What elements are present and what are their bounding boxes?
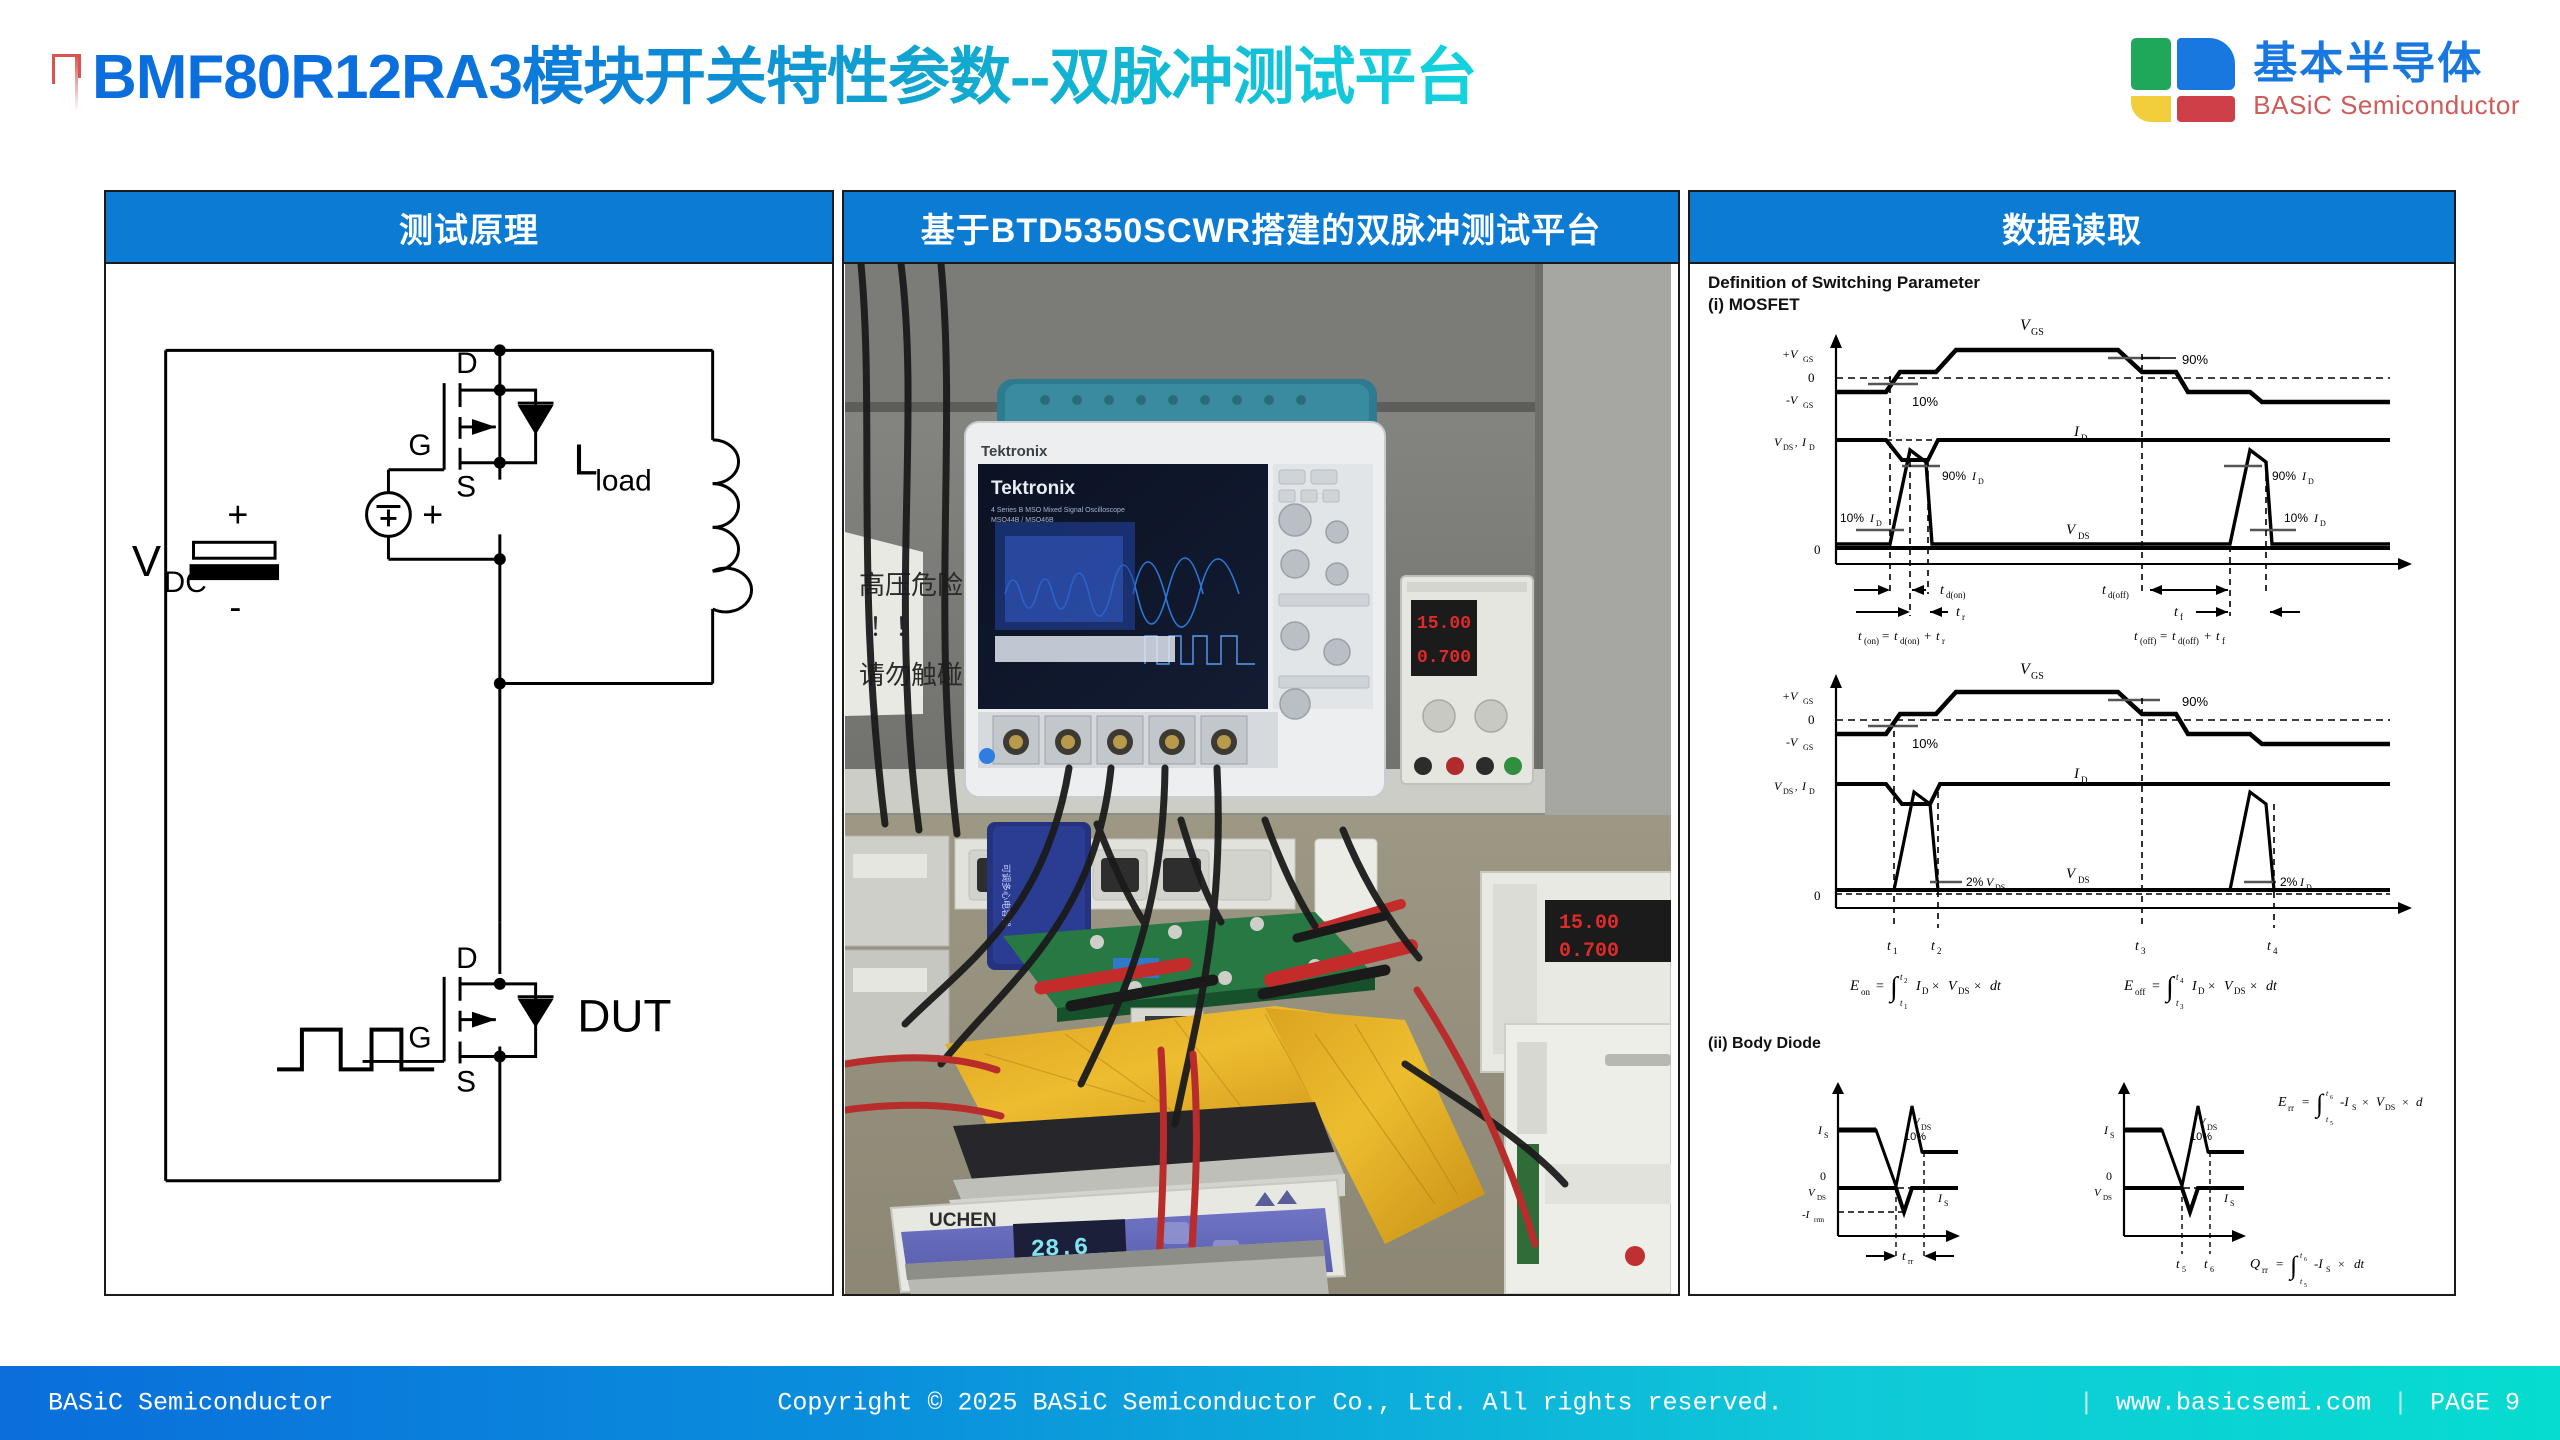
logo-text-cn: 基本半导体 (2253, 42, 2520, 86)
eq-t-on: t (1858, 628, 1862, 643)
panel-center-body: 高压危险 ！！ 请勿触碰 (844, 264, 1678, 1294)
svg-text:×: × (2402, 1095, 2409, 1109)
svg-text:1: 1 (1904, 1003, 1908, 1011)
svg-text:GS: GS (2031, 671, 2044, 682)
svg-text:2: 2 (1904, 977, 1908, 985)
footer-separator-1: | (2079, 1389, 2094, 1418)
svg-text:-I: -I (2314, 1256, 2323, 1271)
oscilloscope: Tektronix Tektronix 4 Series B MSO Mixed… (965, 379, 1385, 797)
svg-text:D: D (2081, 433, 2088, 443)
svg-text:=: = (1876, 979, 1884, 994)
svg-text:=: = (2160, 628, 2167, 643)
ann-2pct-vds: 2% (1966, 875, 1984, 889)
svg-text:+: + (2204, 628, 2211, 643)
label-q1-source: S (456, 471, 476, 504)
svg-text:Q: Q (2250, 1257, 2260, 1272)
svg-text:S: S (2352, 1103, 2356, 1112)
svg-text:,: , (1795, 438, 1798, 449)
test-bench-photo: 高压危险 ！！ 请勿触碰 (845, 264, 1671, 1294)
svg-text:0: 0 (1808, 712, 1815, 727)
svg-text:3: 3 (2180, 1003, 2184, 1011)
panel-data-readout: 数据读取 Definition of Switching Parameter (… (1688, 190, 2456, 1296)
svg-text:V: V (2224, 979, 2234, 994)
svg-text:GS: GS (1803, 355, 1813, 364)
slide-root: BMF80R12RA3模块开关特性参数--双脉冲测试平台 基本半导体 BASiC… (0, 0, 2560, 1440)
label-q2-drain: D (456, 942, 478, 975)
svg-text:d: d (2416, 1094, 2423, 1109)
label-lload: L (573, 436, 597, 485)
panel-left-body: V DC + - D G S + L load D G S DUT (106, 264, 832, 1294)
svg-text:DS: DS (2385, 1103, 2395, 1112)
label-vdc-sub: DC (164, 566, 207, 599)
svg-text:GS: GS (1803, 697, 1813, 706)
footer-url[interactable]: www.basicsemi.com (2116, 1389, 2371, 1418)
label-batt-minus: - (229, 587, 241, 627)
svg-text:D: D (1922, 986, 1929, 996)
svg-text:6: 6 (2304, 1257, 2307, 1263)
svg-text:DS: DS (2078, 875, 2090, 885)
ann-10pct-top: 10% (1912, 394, 1938, 409)
svg-text:15.00: 15.00 (1559, 912, 1619, 935)
svg-text:E: E (2123, 978, 2133, 994)
svg-text:d(off): d(off) (2178, 636, 2199, 646)
panel-right-header: 数据读取 (1690, 192, 2454, 264)
svg-text:GS: GS (1803, 743, 1813, 752)
svg-text:D: D (1809, 443, 1815, 452)
ann-2pct-id: 2% (2280, 875, 2298, 889)
svg-text:(on): (on) (1864, 636, 1879, 646)
label-lload-sub: load (595, 465, 651, 498)
svg-text:off: off (2135, 987, 2145, 997)
svg-text:GS: GS (1803, 401, 1813, 410)
svg-text:f: f (2180, 612, 2183, 622)
svg-text:×: × (1932, 978, 1939, 993)
figure-title-line1: Definition of Switching Parameter (1708, 273, 1980, 292)
ann-90id-left: 90% (1942, 469, 1966, 483)
svg-text:×: × (1974, 978, 1981, 993)
svg-text:rr: rr (2262, 1265, 2268, 1275)
switching-parameter-definition-figure: Definition of Switching Parameter (i) MO… (1690, 264, 2454, 1294)
figure-title-line2: (i) MOSFET (1708, 295, 1800, 314)
svg-text:0: 0 (1808, 370, 1815, 385)
svg-text:d(on): d(on) (1946, 590, 1966, 600)
panel-test-principle: 测试原理 (104, 190, 834, 1296)
footer-brand: BASiC Semiconductor (48, 1389, 333, 1418)
svg-text:r: r (1942, 636, 1945, 646)
svg-text:×: × (2338, 1257, 2345, 1271)
brand-logo: 基本半导体 BASiC Semiconductor (2131, 38, 2520, 122)
svg-text:D: D (2320, 519, 2326, 528)
double-pulse-circuit-diagram: V DC + - D G S + L load D G S DUT (106, 264, 832, 1294)
panel-center-header: 基于BTD5350SCWR搭建的双脉冲测试平台 (844, 192, 1678, 264)
svg-text:=: = (2276, 1256, 2283, 1271)
bench-power-supply-right: 15.00 0.700 (1481, 872, 1671, 1294)
logo-square-yellow-icon (2131, 96, 2171, 122)
svg-text:90%: 90% (2182, 694, 2208, 709)
logo-mark-icon (2131, 38, 2235, 122)
svg-text:+: + (1924, 628, 1931, 643)
label-trr: t (1902, 1248, 1906, 1263)
svg-text:t: t (1894, 628, 1898, 643)
svg-text:rr: rr (1908, 1257, 1914, 1266)
svg-text:=: = (2152, 979, 2160, 994)
figure-section2-title: (ii) Body Diode (1708, 1035, 1821, 1052)
svg-text:5: 5 (2304, 1283, 2307, 1289)
svg-text:I: I (2073, 424, 2080, 440)
svg-text:4: 4 (2273, 946, 2278, 956)
svg-text:E: E (2277, 1095, 2287, 1110)
svg-text:dt: dt (2266, 979, 2278, 994)
svg-text:2: 2 (1937, 946, 1942, 956)
svg-text:Tektronix: Tektronix (991, 478, 1076, 499)
svg-text:4 Series B MSO Mixed Signal Os: 4 Series B MSO Mixed Signal Oscilloscope (991, 507, 1125, 514)
svg-text:t: t (2216, 628, 2220, 643)
svg-text:DS: DS (1958, 986, 1970, 996)
svg-text:0: 0 (1814, 542, 1821, 557)
svg-text:rr: rr (2288, 1103, 2294, 1113)
footer-separator-2: | (2393, 1389, 2408, 1418)
logo-square-blue-icon (2177, 38, 2235, 90)
footer-meta: | www.basicsemi.com | PAGE 9 (2079, 1389, 2520, 1418)
logo-square-red-icon (2177, 96, 2235, 122)
svg-text:,: , (1795, 782, 1798, 793)
svg-text:15.00: 15.00 (1417, 614, 1471, 634)
test-bench-photo-content: 高压危险 ！！ 请勿触碰 (845, 264, 1671, 1294)
svg-text:+V: +V (1782, 689, 1799, 703)
svg-text:6: 6 (2330, 1095, 2333, 1101)
page-title: BMF80R12RA3模块开关特性参数--双脉冲测试平台 (92, 26, 1476, 116)
svg-text:S: S (2326, 1265, 2330, 1274)
svg-text:DS: DS (1817, 1194, 1826, 1202)
svg-text:0: 0 (1814, 888, 1821, 903)
panel-right-body: Definition of Switching Parameter (i) MO… (1690, 264, 2454, 1294)
svg-text:r: r (1962, 612, 1965, 622)
svg-text:=: = (2302, 1094, 2309, 1109)
svg-text:D: D (2081, 775, 2088, 785)
logo-square-green-icon (2131, 38, 2171, 90)
svg-text:f: f (2222, 636, 2225, 646)
svg-text:+V: +V (1782, 347, 1799, 361)
svg-text:t: t (1936, 628, 1940, 643)
svg-text:1: 1 (1893, 946, 1898, 956)
svg-text:on: on (1861, 987, 1871, 997)
svg-text:D: D (2198, 986, 2205, 996)
label-batt-plus: + (227, 494, 248, 534)
bench-power-supply-top: 15.00 0.700 (1401, 576, 1533, 784)
svg-text:E: E (1849, 978, 1859, 994)
ann-10id-left: 10% (1840, 511, 1864, 525)
svg-text:D: D (1809, 787, 1815, 796)
svg-text:dt: dt (2354, 1256, 2365, 1271)
svg-text:DS: DS (2234, 986, 2246, 996)
label-q1-drain: D (456, 347, 478, 380)
svg-text:D: D (2308, 477, 2314, 486)
svg-text:-V: -V (1786, 735, 1799, 749)
svg-text:DS: DS (1995, 883, 2005, 892)
svg-text:d(on): d(on) (1900, 636, 1920, 646)
svg-text:-V: -V (1786, 393, 1799, 407)
svg-text:I: I (2073, 766, 2080, 782)
ann-90pct-top: 90% (2182, 352, 2208, 367)
panel-left-header: 测试原理 (106, 192, 832, 264)
svg-text:=: = (1882, 628, 1889, 643)
label-t5: t (2176, 1256, 2180, 1271)
label-q1-gate: G (408, 429, 431, 462)
svg-text:DS: DS (1783, 787, 1793, 796)
svg-text:6: 6 (2210, 1265, 2214, 1274)
svg-text:DS: DS (2078, 531, 2090, 541)
label-t6: t (2204, 1256, 2208, 1271)
svg-text:0.700: 0.700 (1559, 940, 1619, 963)
label-q2-source: S (456, 1065, 476, 1098)
ann-10pct-bd-left: 10% (1904, 1131, 1926, 1143)
svg-text:DS: DS (2103, 1194, 2112, 1202)
svg-text:GS: GS (2031, 327, 2044, 338)
ann-90id-right: 90% (2272, 469, 2296, 483)
flag-bullet-icon (52, 54, 78, 84)
svg-text:-I: -I (2340, 1094, 2349, 1109)
svg-text:V: V (1948, 979, 1958, 994)
svg-text:t: t (2172, 628, 2176, 643)
svg-text:×: × (2208, 978, 2215, 993)
svg-text:0.700: 0.700 (1417, 648, 1471, 668)
svg-text:S: S (1824, 1131, 1828, 1140)
svg-text:d(off): d(off) (2108, 590, 2129, 600)
svg-text:！！: ！！ (869, 612, 921, 642)
svg-text:10%: 10% (1912, 736, 1938, 751)
label-vdc: V (132, 537, 161, 586)
svg-text:×: × (2362, 1095, 2369, 1109)
svg-text:S: S (2110, 1131, 2114, 1140)
label-q2-gate: G (408, 1022, 431, 1055)
svg-text:S: S (1944, 1199, 1948, 1208)
svg-text:S: S (2230, 1199, 2234, 1208)
label-gate-source-plus: + (422, 494, 443, 534)
svg-text:(off): (off) (2140, 636, 2156, 646)
svg-text:5: 5 (2330, 1121, 2333, 1127)
logo-text-en: BASiC Semiconductor (2253, 92, 2520, 118)
svg-text:5: 5 (2182, 1265, 2186, 1274)
panel-test-bench: 基于BTD5350SCWR搭建的双脉冲测试平台 (842, 190, 1680, 1296)
page-footer: BASiC Semiconductor Copyright © 2025 BAS… (0, 1366, 2560, 1440)
ann-10pct-bd-right: 10% (2190, 1131, 2212, 1143)
svg-text:4: 4 (2180, 977, 2184, 985)
svg-text:×: × (2250, 978, 2257, 993)
svg-text:D: D (1876, 519, 1882, 528)
svg-text:dt: dt (1990, 979, 2002, 994)
svg-text:D: D (2306, 883, 2312, 892)
svg-text:rrm: rrm (1814, 1216, 1825, 1224)
footer-copyright: Copyright © 2025 BASiC Semiconductor Co.… (777, 1389, 1782, 1418)
label-dut: DUT (577, 991, 671, 1042)
eq-t-off: t (2134, 628, 2138, 643)
footer-page-number: PAGE 9 (2430, 1389, 2520, 1418)
svg-text:D: D (1978, 477, 1984, 486)
svg-text:0: 0 (2106, 1169, 2112, 1183)
ann-10id-right: 10% (2284, 511, 2308, 525)
svg-text:3: 3 (2141, 946, 2146, 956)
svg-text:Tektronix: Tektronix (981, 443, 1048, 460)
svg-text:DS: DS (1783, 443, 1793, 452)
svg-text:0: 0 (1820, 1169, 1826, 1183)
